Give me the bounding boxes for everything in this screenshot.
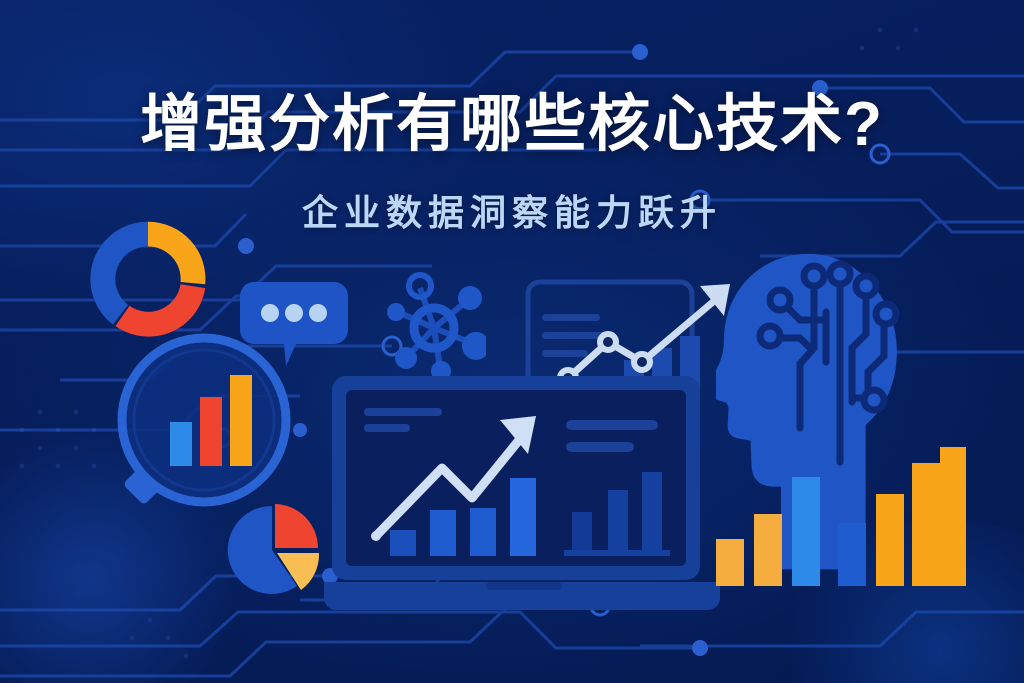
donut-chart [78, 214, 218, 344]
right-bar-chart [712, 446, 968, 586]
page-title: 增强分析有哪些核心技术? [0, 92, 1024, 159]
bubble-dots [261, 304, 327, 322]
pie-slice-red [275, 504, 318, 548]
donut-segment-orange [148, 222, 205, 284]
donut-segment-red [116, 284, 206, 336]
laptop-dashboard [324, 372, 720, 614]
donut-segment-blue [90, 222, 148, 325]
magnifier-bar-chart [112, 332, 302, 522]
trackpad-notch [486, 582, 562, 590]
right-bars [716, 447, 966, 586]
poster-canvas: 增强分析有哪些核心技术? 企业数据洞察能力跃升 [0, 0, 1024, 683]
pie-chart [222, 500, 322, 600]
network-nodes-icon [382, 272, 486, 384]
